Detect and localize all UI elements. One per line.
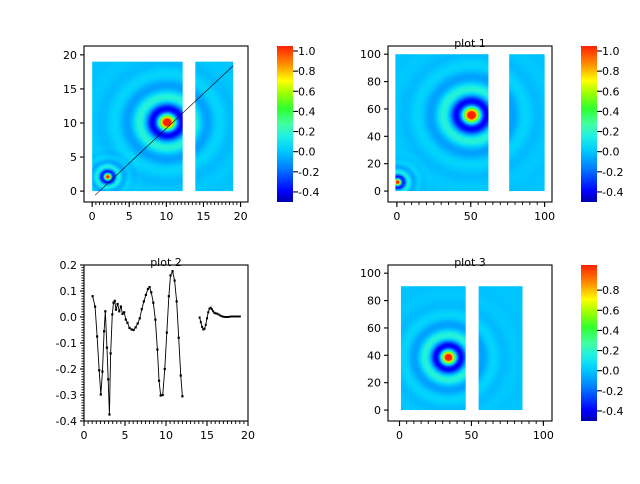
data-point-marker	[120, 306, 122, 308]
data-point-marker	[229, 316, 231, 318]
x-tick-label: 20	[234, 210, 248, 223]
panel-plot2: plot 20.20.10.0-0.1-0.2-0.3-0.405101520	[56, 256, 255, 442]
y-tick-label: 60	[367, 103, 381, 116]
colorbar-tick-label: -0.2	[602, 166, 623, 179]
colorbar-tick-label: 1.0	[602, 45, 620, 58]
data-point-marker	[205, 324, 207, 326]
colorbar-tick-label: -0.4	[602, 186, 623, 199]
y-tick-label: 0	[374, 185, 381, 198]
data-point-marker	[111, 313, 113, 315]
data-point-marker	[100, 393, 102, 395]
y-tick-label: -0.3	[56, 389, 77, 402]
heatmap-layer-plot0	[92, 62, 233, 196]
y-tick-label: 20	[367, 158, 381, 171]
colorbar-tick-label: 0.2	[602, 126, 620, 139]
data-point-marker	[168, 295, 170, 297]
x-tick-label: 100	[534, 210, 555, 223]
data-series-segment-b	[200, 308, 240, 330]
data-point-marker	[160, 394, 162, 396]
y-tick-label: -0.2	[56, 363, 77, 376]
x-tick-label: 0	[393, 210, 400, 223]
y-tick-label: 20	[63, 49, 77, 62]
data-point-marker	[178, 337, 180, 339]
colorbar-tick-label: 0.0	[602, 365, 620, 378]
heatmap-image-2	[479, 286, 523, 410]
data-point-marker	[164, 368, 166, 370]
data-point-marker	[158, 380, 160, 382]
panel-plot3: plot 30204060801000501000.80.60.40.20.0-…	[360, 256, 623, 442]
y-tick-label: 0.1	[60, 285, 78, 298]
data-point-marker	[211, 308, 213, 310]
x-tick-label: 100	[533, 429, 554, 442]
y-tick-label: 80	[367, 76, 381, 89]
x-tick-label: 50	[464, 429, 478, 442]
x-tick-label: 10	[159, 429, 173, 442]
data-series-segment-a	[93, 271, 183, 414]
heatmap-image-1	[395, 54, 488, 191]
data-point-marker	[174, 280, 176, 282]
heatmap-image-2	[509, 54, 544, 191]
colorbar-tick-label: 0.2	[298, 126, 316, 139]
figure-canvas: 05101520051015201.00.80.60.40.20.0-0.2-0…	[0, 0, 640, 480]
data-point-marker	[94, 306, 96, 308]
colorbar-tick-label: 0.4	[298, 105, 316, 118]
data-point-marker	[133, 329, 135, 331]
heatmap-image-2	[195, 62, 233, 191]
data-point-marker	[107, 378, 109, 380]
y-tick-label: 0	[374, 404, 381, 417]
data-point-marker	[154, 319, 156, 321]
data-point-marker	[98, 369, 100, 371]
colorbar-tick-label: 0.4	[602, 324, 620, 337]
data-point-marker	[118, 310, 120, 312]
data-point-marker	[117, 303, 119, 305]
colorbar-tick-label: 0.6	[298, 85, 316, 98]
data-point-marker	[207, 311, 209, 313]
data-point-marker	[224, 316, 226, 318]
data-point-marker	[166, 332, 168, 334]
data-point-marker	[181, 395, 183, 397]
data-point-marker	[115, 309, 117, 311]
y-tick-label: -0.1	[56, 337, 77, 350]
colorbar-tick-label: 0.6	[602, 85, 620, 98]
data-point-marker	[110, 352, 112, 354]
data-point-marker	[139, 317, 141, 319]
y-tick-label: 10	[63, 117, 77, 130]
y-tick-label: 100	[360, 267, 381, 280]
data-point-marker	[237, 315, 239, 317]
data-point-marker	[137, 322, 139, 324]
x-tick-label: 10	[159, 210, 173, 223]
colorbar-plot3	[581, 265, 597, 421]
data-point-marker	[143, 300, 145, 302]
colorbar-tick-label: 0.8	[298, 65, 316, 78]
x-tick-label: 15	[200, 429, 214, 442]
y-tick-label: 80	[367, 295, 381, 308]
y-tick-label: 20	[367, 377, 381, 390]
data-point-marker	[108, 413, 110, 415]
y-tick-label: 0	[70, 185, 77, 198]
data-point-marker	[141, 308, 143, 310]
line-layer-plot2	[92, 270, 241, 415]
y-tick-label: 100	[360, 48, 381, 61]
colorbar-plot0	[277, 46, 293, 202]
x-tick-label: 0	[81, 429, 88, 442]
data-point-marker	[106, 347, 108, 349]
x-tick-label: 0	[396, 429, 403, 442]
data-point-marker	[126, 322, 128, 324]
data-point-marker	[231, 315, 233, 317]
x-tick-label: 50	[464, 210, 478, 223]
heatmap-image-1	[401, 286, 466, 410]
data-point-marker	[222, 316, 224, 318]
data-point-marker	[101, 371, 103, 373]
colorbar-tick-label: 0.6	[602, 304, 620, 317]
colorbar-tick-label: -0.2	[298, 166, 319, 179]
y-tick-label: 0.2	[60, 259, 78, 272]
data-point-marker	[199, 317, 201, 319]
figure-svg: 05101520051015201.00.80.60.40.20.0-0.2-0…	[0, 0, 640, 480]
y-tick-label: 5	[70, 151, 77, 164]
data-point-marker	[130, 328, 132, 330]
data-point-marker	[171, 270, 173, 272]
colorbar-tick-label: 0.8	[602, 284, 620, 297]
data-point-marker	[227, 316, 229, 318]
colorbar-tick-label: -0.4	[298, 186, 319, 199]
data-point-marker	[150, 291, 152, 293]
data-point-marker	[103, 330, 105, 332]
data-point-marker	[204, 328, 206, 330]
colorbar-tick-label: 0.8	[602, 65, 620, 78]
x-tick-label: 5	[126, 210, 133, 223]
panel-title-plot3: plot 3	[454, 256, 486, 269]
y-tick-label: 15	[63, 83, 77, 96]
data-point-marker	[176, 300, 178, 302]
data-point-marker	[180, 374, 182, 376]
data-point-marker	[92, 295, 94, 297]
data-point-marker	[235, 315, 237, 317]
data-point-marker	[156, 348, 158, 350]
colorbar-tick-label: -0.2	[602, 385, 623, 398]
data-point-marker	[114, 300, 116, 302]
panel-title-plot1: plot 1	[454, 37, 486, 50]
data-point-marker	[239, 315, 241, 317]
y-tick-label: 40	[367, 130, 381, 143]
panel-plot0: 05101520051015201.00.80.60.40.20.0-0.2-0…	[63, 45, 319, 223]
heatmap-image-1	[92, 62, 183, 191]
data-point-marker	[169, 274, 171, 276]
data-point-marker	[162, 394, 164, 396]
colorbar-tick-label: -0.4	[602, 405, 623, 418]
x-tick-label: 15	[196, 210, 210, 223]
data-point-marker	[233, 315, 235, 317]
data-point-marker	[200, 321, 202, 323]
x-tick-label: 5	[122, 429, 129, 442]
data-point-marker	[152, 302, 154, 304]
data-point-marker	[145, 294, 147, 296]
y-tick-label: 60	[367, 322, 381, 335]
heatmap-layer-plot1	[395, 54, 544, 191]
data-point-marker	[96, 335, 98, 337]
colorbar-tick-label: 0.0	[298, 146, 316, 159]
y-tick-label: 40	[367, 349, 381, 362]
data-point-marker	[201, 326, 203, 328]
x-tick-label: 20	[241, 429, 255, 442]
panel-title-plot2: plot 2	[150, 256, 182, 269]
data-point-marker	[104, 310, 106, 312]
colorbar-tick-label: 1.0	[298, 45, 316, 58]
data-point-marker	[123, 311, 125, 313]
x-tick-label: 0	[89, 210, 96, 223]
panel-plot1: plot 10204060801000501001.00.80.60.40.20…	[360, 37, 623, 223]
colorbar-tick-label: 0.4	[602, 105, 620, 118]
data-point-marker	[125, 319, 127, 321]
y-tick-label: 0.0	[60, 311, 78, 324]
colorbar-tick-label: 0.2	[602, 345, 620, 358]
heatmap-layer-plot3	[401, 286, 523, 410]
data-point-marker	[206, 317, 208, 319]
data-point-marker	[128, 327, 130, 329]
data-point-marker	[135, 326, 137, 328]
y-tick-label: -0.4	[56, 415, 77, 428]
colorbar-plot1	[581, 46, 597, 202]
colorbar-tick-label: 0.0	[602, 146, 620, 159]
data-point-marker	[149, 286, 151, 288]
